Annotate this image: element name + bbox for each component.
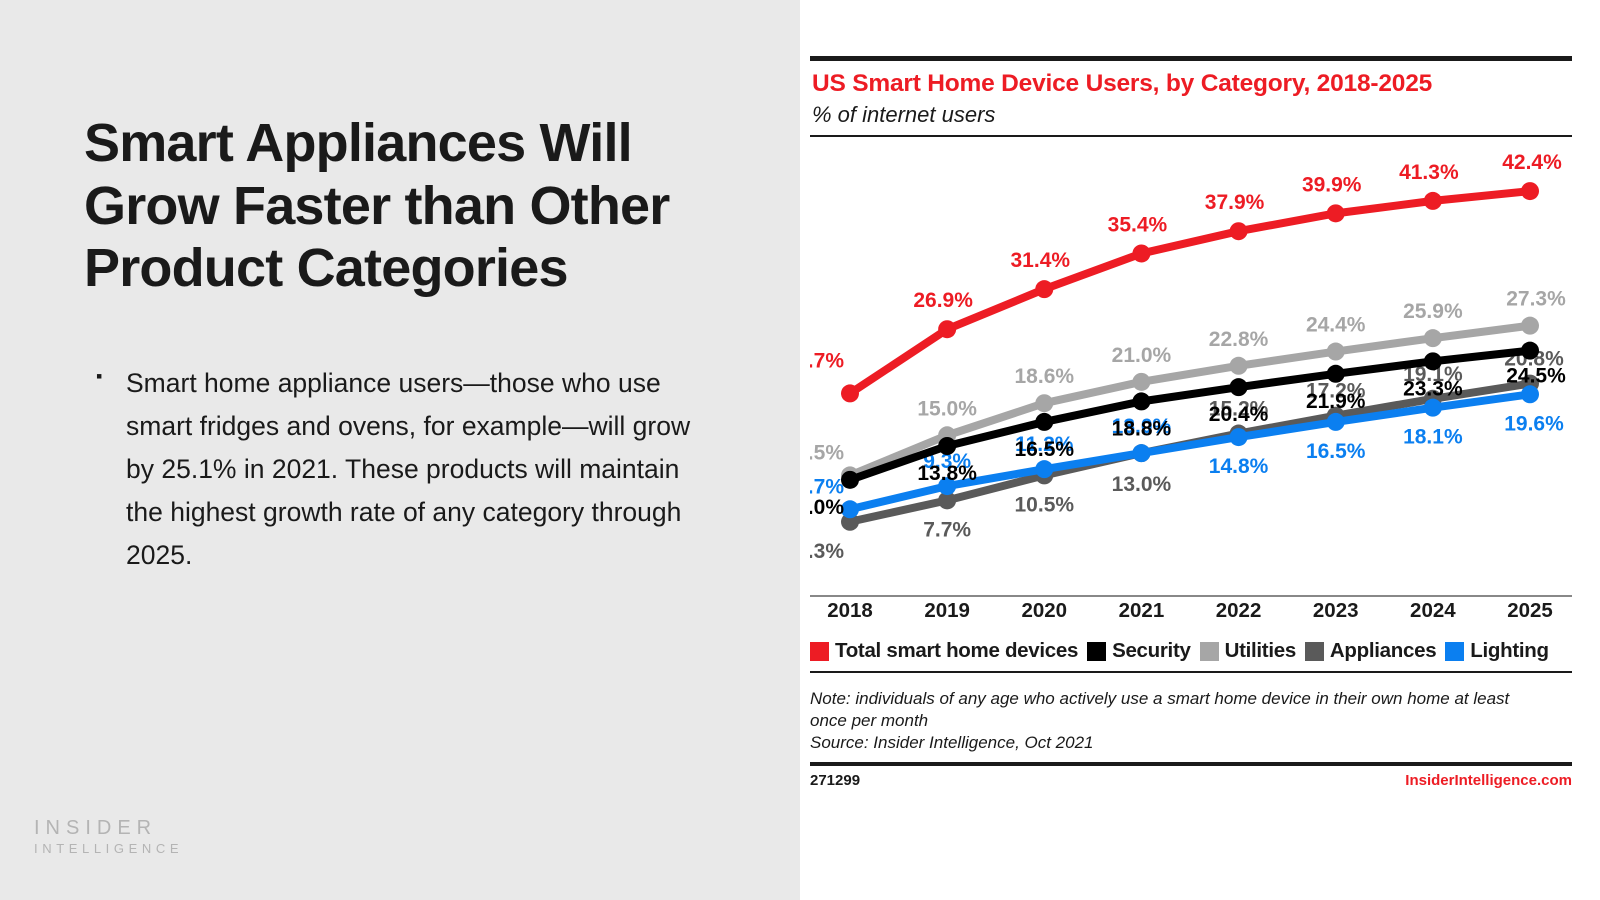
data-label: 18.8% [1112, 418, 1172, 441]
data-point [1035, 413, 1053, 431]
legend-item-utilities[interactable]: Utilities [1200, 639, 1296, 663]
data-label: 22.8% [1209, 328, 1269, 351]
data-point [1132, 373, 1150, 391]
slide-root: Smart Appliances Will Grow Faster than O… [0, 0, 1600, 900]
chart-notes: Note: individuals of any age who activel… [810, 682, 1572, 753]
data-label: 23.3% [1403, 378, 1463, 401]
x-tick-2018: 2018 [827, 599, 873, 623]
data-point [1424, 353, 1442, 371]
data-label: 35.4% [1108, 214, 1168, 237]
left-content-panel: Smart Appliances Will Grow Faster than O… [0, 0, 800, 900]
source-line: Source: Insider Intelligence, Oct 2021 [810, 732, 1572, 754]
x-axis-tick-labels: 20182019202020212022202320242025 [810, 599, 1572, 635]
data-label: 16.5% [1306, 440, 1366, 463]
data-label: 6.7% [810, 476, 844, 499]
data-point [1327, 205, 1345, 223]
legend-label: Lighting [1470, 639, 1548, 663]
data-label: 39.9% [1302, 174, 1362, 197]
data-point [841, 471, 859, 489]
legend-label: Security [1112, 639, 1191, 663]
data-label: 18.6% [1015, 366, 1075, 389]
data-label: 20.4% [1209, 404, 1269, 427]
chart-top-rule [810, 56, 1572, 61]
data-point [1521, 317, 1539, 335]
data-label: 26.9% [913, 290, 973, 313]
bullet-text: Smart home appliance users—those who use… [126, 368, 690, 570]
x-tick-2019: 2019 [924, 599, 970, 623]
data-label: 19.7% [810, 350, 844, 373]
data-point [1521, 342, 1539, 360]
data-label: 16.5% [1015, 438, 1075, 461]
data-point [841, 385, 859, 403]
data-point [1327, 343, 1345, 361]
chart-subtitle: % of internet users [812, 102, 1572, 128]
data-point [1035, 281, 1053, 299]
data-point [1521, 386, 1539, 404]
data-point [1521, 182, 1539, 200]
note-line-2: once per month [810, 710, 1572, 732]
chart-legend: Total smart home devicesSecurityUtilitie… [810, 639, 1572, 663]
x-tick-2020: 2020 [1021, 599, 1067, 623]
data-point [1230, 379, 1248, 397]
chart-panel: US Smart Home Device Users, by Category,… [800, 0, 1600, 900]
notes-top-rule [810, 671, 1572, 673]
data-label: 19.6% [1504, 413, 1564, 436]
data-point [1132, 393, 1150, 411]
legend-item-appliances[interactable]: Appliances [1305, 639, 1436, 663]
legend-label: Total smart home devices [835, 639, 1078, 663]
insider-intelligence-logo: INSIDER INTELLIGENCE [34, 816, 183, 858]
data-label: 13.0% [1112, 474, 1172, 497]
data-label: 10.5% [1015, 494, 1075, 517]
chart-title: US Smart Home Device Users, by Category,… [812, 69, 1572, 98]
page-title: Smart Appliances Will Grow Faster than O… [84, 112, 764, 300]
data-label: 13.8% [917, 462, 977, 485]
data-label: 37.9% [1205, 192, 1265, 215]
data-label: 42.4% [1502, 151, 1562, 174]
legend-swatch-icon [810, 642, 829, 661]
data-label: 21.0% [1112, 344, 1172, 367]
data-point [1327, 365, 1345, 383]
x-tick-2022: 2022 [1216, 599, 1262, 623]
bullet-list: ▪ Smart home appliance users—those who u… [92, 362, 712, 577]
data-label: 25.9% [1403, 301, 1463, 324]
legend-item-security[interactable]: Security [1087, 639, 1191, 663]
data-point [1424, 330, 1442, 348]
legend-item-total-smart-home-devices[interactable]: Total smart home devices [810, 639, 1078, 663]
data-label: 18.1% [1403, 426, 1463, 449]
data-label: 24.5% [1506, 365, 1566, 388]
plot-area: 5.3%7.7%10.5%13.0%15.2%17.2%19.1%20.8%6.… [810, 137, 1572, 595]
x-tick-2023: 2023 [1313, 599, 1359, 623]
data-point [1424, 192, 1442, 210]
footer-rule [810, 762, 1572, 766]
data-point [1424, 399, 1442, 417]
logo-primary-text: INSIDER [34, 816, 183, 841]
data-point [1035, 461, 1053, 479]
data-label: 10.0% [810, 496, 844, 519]
legend-label: Utilities [1225, 639, 1296, 663]
data-label: 14.8% [1209, 455, 1269, 478]
legend-swatch-icon [1305, 642, 1324, 661]
data-label: 41.3% [1399, 161, 1459, 184]
x-tick-2025: 2025 [1507, 599, 1553, 623]
data-point [1132, 445, 1150, 463]
data-point [1230, 357, 1248, 375]
line-chart-svg: 5.3%7.7%10.5%13.0%15.2%17.2%19.1%20.8%6.… [810, 137, 1572, 595]
data-point [1327, 413, 1345, 431]
source-website-link[interactable]: InsiderIntelligence.com [1405, 772, 1572, 789]
data-point [938, 321, 956, 339]
data-label: 5.3% [810, 540, 844, 563]
legend-swatch-icon [1445, 642, 1464, 661]
data-label: 7.7% [923, 519, 971, 542]
note-line-1: Note: individuals of any age who activel… [810, 688, 1572, 710]
legend-label: Appliances [1330, 639, 1436, 663]
chart-id: 271299 [810, 772, 860, 789]
chart-footer: 271299 InsiderIntelligence.com [810, 772, 1572, 789]
data-label: 21.9% [1306, 390, 1366, 413]
data-label: 10.5% [810, 442, 844, 465]
data-point [938, 437, 956, 455]
legend-swatch-icon [1087, 642, 1106, 661]
legend-item-lighting[interactable]: Lighting [1445, 639, 1548, 663]
logo-secondary-text: INTELLIGENCE [34, 841, 183, 858]
data-label: 15.0% [917, 398, 977, 421]
data-point [1132, 245, 1150, 263]
bullet-marker-icon: ▪ [96, 362, 102, 391]
x-tick-2021: 2021 [1119, 599, 1165, 623]
data-point [1230, 428, 1248, 446]
list-item: ▪ Smart home appliance users—those who u… [92, 362, 712, 577]
data-point [1230, 223, 1248, 241]
data-label: 27.3% [1506, 288, 1566, 311]
data-label: 24.4% [1306, 314, 1366, 337]
x-axis-line [810, 595, 1572, 597]
data-point [1035, 395, 1053, 413]
legend-swatch-icon [1200, 642, 1219, 661]
data-label: 31.4% [1011, 250, 1071, 273]
x-tick-2024: 2024 [1410, 599, 1456, 623]
